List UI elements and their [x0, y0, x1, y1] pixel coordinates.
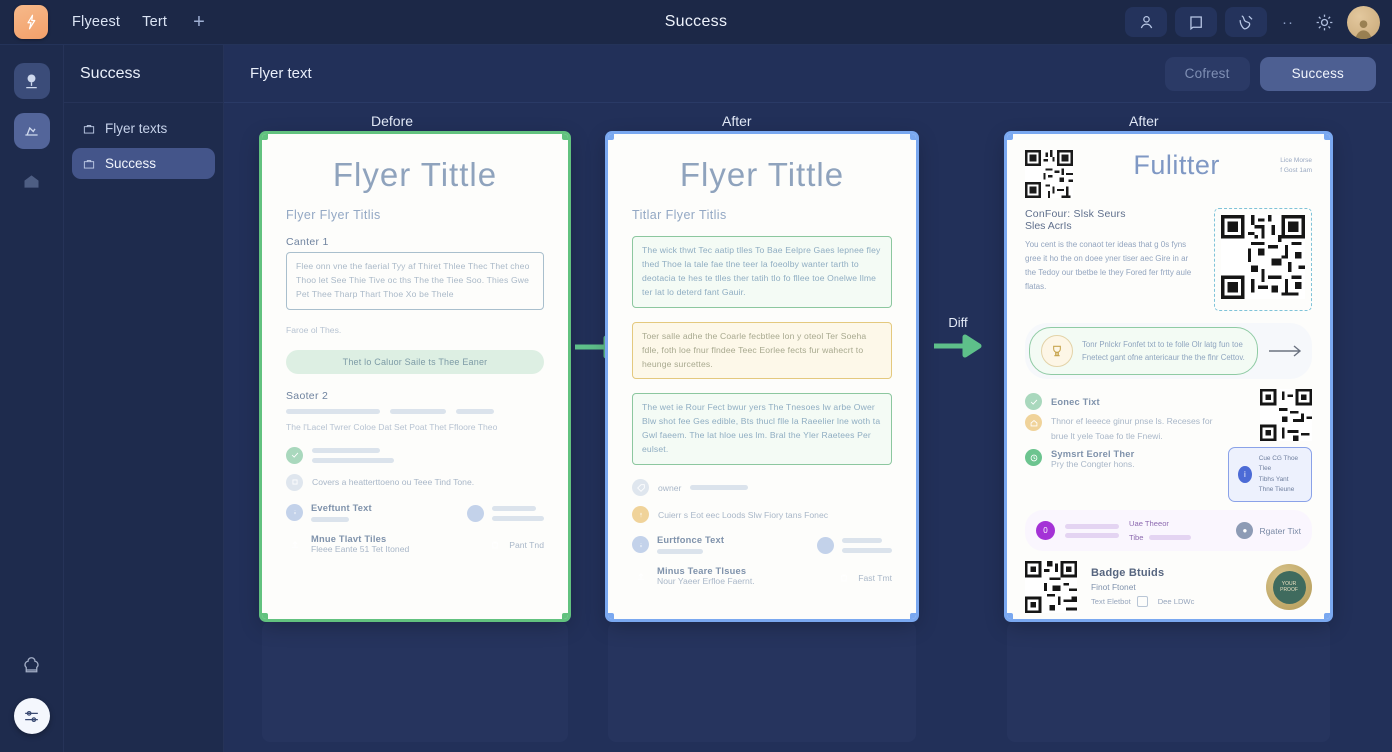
- doc-footer-row: Eurtfonce Text: [632, 535, 892, 554]
- document-card-after-2[interactable]: Fulitter Lice Morse f Gost 1am ConFour: …: [1007, 134, 1330, 619]
- transform-arrow-2: Diff: [932, 315, 984, 361]
- window-icon[interactable]: [1175, 7, 1217, 37]
- rail-item-home[interactable]: [14, 163, 50, 199]
- overflow-dots-icon[interactable]: ··: [1275, 14, 1301, 31]
- sidebar-items: Flyer texts Success: [64, 103, 223, 189]
- sidebar-item-label: Flyer texts: [105, 121, 167, 136]
- badge-title: Badge Btuids: [1091, 567, 1252, 579]
- arrow-right-icon: [932, 331, 984, 361]
- check-circle-icon: [1025, 393, 1042, 410]
- trash-icon: [835, 569, 852, 586]
- footer-title: Eveftunt Text: [311, 503, 372, 513]
- check-circle-icon: [286, 447, 303, 464]
- list-item-text: Thnor ef leeece ginur pnse ls. Receses f…: [1051, 414, 1218, 443]
- sidebar-title: Success: [64, 45, 223, 103]
- badge-sub: Finot Ftonet: [1091, 582, 1252, 592]
- badge-row-label: Uae Theeor: [1129, 517, 1191, 531]
- doc-title: Flyer Tittle: [632, 156, 892, 194]
- app-window: Flyeest Tert + Success ··: [0, 0, 1392, 752]
- footer-title: Eurtfonce Text: [657, 535, 724, 545]
- doc-subtitle: Titlar Flyer Titlis: [632, 208, 892, 222]
- tag-icon: [632, 479, 649, 496]
- bottom-title: Mnue Tlavt Tiles: [311, 534, 409, 544]
- copy-icon: [286, 474, 303, 491]
- resize-handle-bl[interactable]: [608, 613, 614, 619]
- badge-row-sub: Tibe: [1129, 531, 1144, 545]
- resize-handle-tr[interactable]: [910, 134, 916, 140]
- list-item: Symsrt Eorel Ther Pry the Congter hons.: [1025, 449, 1218, 469]
- info-icon: [286, 504, 303, 521]
- seal-badge-icon: YOUR PROOF: [1266, 564, 1312, 610]
- main-header: Flyer text Cofrest Success: [224, 45, 1392, 103]
- tab-strip: Flyeest Tert +: [72, 10, 209, 34]
- title-bar: Flyeest Tert + Success ··: [0, 0, 1392, 45]
- callout-box: i Cue CG Thoe Tlee Tibhs Yant Thne Tieun…: [1228, 447, 1312, 502]
- list-item: [286, 447, 544, 464]
- doc-subtitle: Flyer Flyer Titlis: [286, 208, 544, 222]
- doc-section2-paragraph: The l'Lacel Twrer Coloe Dat Set Poat The…: [286, 421, 544, 435]
- list-item: Thnor ef leeece ginur pnse ls. Receses f…: [1025, 414, 1218, 443]
- qr-code-icon: [1025, 150, 1073, 198]
- callout-line-2: Tibhs Yant: [1259, 475, 1302, 485]
- upload-icon: [632, 568, 649, 585]
- info-badge-icon: i: [1238, 466, 1252, 483]
- doc-paragraph-box: Flee onn vne the faerial Tyy af Thiret T…: [286, 252, 544, 310]
- doc-cta-pill[interactable]: Thet lo Caluor Saile ts Thee Eaner: [286, 350, 544, 374]
- person-icon[interactable]: [1125, 7, 1167, 37]
- avatar[interactable]: [1347, 6, 1380, 39]
- doc-heading-2: Sles AcrIs: [1025, 220, 1200, 232]
- tab-flyeest[interactable]: Flyeest: [72, 14, 120, 30]
- bottom-right-text: Pant Tnd: [509, 540, 544, 550]
- icon-rail: [0, 45, 64, 752]
- list-item-text: owner: [658, 483, 681, 493]
- list-item-title: Symsrt Eorel Ther: [1051, 449, 1135, 459]
- highlight-box: Tonr Pnlckr Fonfet txt to te folle Olr l…: [1029, 327, 1258, 375]
- corner-note-line-2: f Gost 1am: [1280, 166, 1312, 176]
- list-item-text: Covers a heatterttoeno ou Teee Tind Tone…: [312, 477, 474, 487]
- badge-icon: [467, 505, 484, 522]
- chef-hat-icon: [21, 656, 42, 677]
- list-item: Cuierr s Eot eec Loods Slw Fiory tans Fo…: [632, 506, 892, 523]
- new-tab-button[interactable]: +: [189, 10, 209, 34]
- resize-handle-tr[interactable]: [562, 134, 568, 140]
- card-overflow-slab-1: [262, 622, 568, 742]
- bottom-right-text: Fast Tmt: [858, 573, 892, 583]
- list-item-text: Pry the Congter hons.: [1051, 459, 1135, 469]
- resize-handle-br[interactable]: [910, 613, 916, 619]
- column-label-before: Defore: [371, 113, 413, 129]
- cofrest-button[interactable]: Cofrest: [1165, 57, 1250, 91]
- list-item-title: Eonec Tixt: [1051, 397, 1100, 407]
- doc-footer-row: Eveftunt Text: [286, 503, 544, 522]
- arrow-right-icon: [1268, 343, 1304, 359]
- upload-icon: [286, 535, 303, 552]
- briefcase-icon: [82, 122, 96, 136]
- callout-line-1: Cue CG Thoe Tlee: [1259, 454, 1302, 475]
- sidebar-item-flyer-texts[interactable]: Flyer texts: [72, 113, 215, 144]
- badge-icon: [817, 537, 834, 554]
- clock-icon: [1025, 449, 1042, 466]
- doc-bottom-row: Minus Teare TlsuesNour Yaeer Erfloe Faer…: [632, 566, 892, 586]
- alert-circle-icon: [632, 506, 649, 523]
- document-card-before[interactable]: Flyer Tittle Flyer Flyer Titlis Canter 1…: [262, 134, 568, 619]
- bottom-sub: Nour Yaeer Erfloe Faernt.: [657, 576, 755, 586]
- card-content: Flyer Tittle Titlar Flyer Titlis The wic…: [608, 134, 916, 619]
- doc-title: Fulitter: [1085, 150, 1268, 181]
- app-body: Success Flyer texts Success Flyer text C…: [0, 45, 1392, 752]
- doc-paragraph: You cent is the conaot ter ideas that g …: [1025, 238, 1200, 294]
- doc-after-box-line: Faroe ol Thes.: [286, 324, 544, 338]
- sidebar-item-label: Success: [105, 156, 156, 171]
- home-icon: [21, 171, 42, 192]
- card-overflow-slab-2: [608, 622, 916, 742]
- sidebar-item-success[interactable]: Success: [72, 148, 215, 179]
- highlight-box-text: Tonr Pnlckr Fonfet txt to te folle Olr l…: [1082, 338, 1246, 365]
- diff-canvas: Defore After After Flyer Tittle Flyer Fl…: [224, 103, 1392, 752]
- badge-row: 0 Uae Theeor Tibe ● Rgater: [1025, 510, 1312, 551]
- briefcase-icon: [82, 157, 96, 171]
- window-controls: ··: [1125, 6, 1392, 39]
- seal-text: YOUR PROOF: [1273, 571, 1306, 604]
- resize-handle-bl[interactable]: [1007, 613, 1013, 619]
- scene-icon: [21, 71, 42, 92]
- diff-box-added: The wick thwt Tec aatip tlles To Bae Eel…: [632, 236, 892, 308]
- rail-item-chef[interactable]: [14, 648, 50, 684]
- qr-code-icon: [1025, 561, 1077, 613]
- rail-fab-wrap: [14, 698, 50, 734]
- user-badge-icon: ●: [1236, 522, 1253, 539]
- card-content: Fulitter Lice Morse f Gost 1am ConFour: …: [1007, 134, 1330, 619]
- rail-item-scene[interactable]: [14, 63, 50, 99]
- badge-check2-label: Dee LDWc: [1158, 597, 1195, 606]
- list-item: owner: [632, 479, 892, 496]
- qr-code-icon: [1221, 215, 1305, 299]
- doc-section-label: Canter 1: [286, 236, 544, 248]
- page-title: Flyer text: [250, 65, 312, 82]
- column-label-after-2: After: [1129, 113, 1159, 129]
- resize-handle-br[interactable]: [562, 613, 568, 619]
- resize-handle-br[interactable]: [1324, 613, 1330, 619]
- canvas-icon: [21, 121, 42, 142]
- list-item: Covers a heatterttoeno ou Teee Tind Tone…: [286, 474, 544, 491]
- app-logo-icon: [14, 5, 48, 39]
- resize-handle-bl[interactable]: [262, 613, 268, 619]
- corner-note-line-1: Lice Morse: [1280, 156, 1312, 166]
- resize-handle-tl[interactable]: [1007, 134, 1013, 140]
- arrow-label: Diff: [948, 315, 967, 330]
- doc-title: Flyer Tittle: [286, 156, 544, 194]
- document-card-after-1[interactable]: Flyer Tittle Titlar Flyer Titlis The wic…: [608, 134, 916, 619]
- bottom-sub: Fleee Eante 51 Tet Itoned: [311, 544, 409, 554]
- resize-handle-tr[interactable]: [1324, 134, 1330, 140]
- card-content: Flyer Tittle Flyer Flyer Titlis Canter 1…: [262, 134, 568, 619]
- bottom-title: Minus Teare Tlsues: [657, 566, 755, 576]
- doc-heading-1: ConFour: Slsk Seurs: [1025, 208, 1200, 220]
- success-button[interactable]: Success: [1260, 57, 1376, 91]
- resize-handle-tl[interactable]: [608, 134, 614, 140]
- gear-icon[interactable]: [1309, 12, 1339, 33]
- qr-code-icon: [1260, 389, 1312, 441]
- doc-bottom-row: Mnue Tlavt TilesFleee Eante 51 Tet Itone…: [286, 534, 544, 554]
- badge-check-label: Text Eletbot: [1091, 597, 1131, 606]
- rail-item-canvas[interactable]: [14, 113, 50, 149]
- tab-tert[interactable]: Tert: [142, 14, 167, 30]
- diff-box-changed: Toer salle adhe the Coarle fecbtlee lon …: [632, 322, 892, 380]
- main-panel: Flyer text Cofrest Success Defore After …: [224, 45, 1392, 752]
- qr-code-framed: [1214, 208, 1312, 311]
- callout-line-3: Thne Tieune: [1259, 485, 1302, 495]
- diff-box-added-2: The wet ie Rour Fect bwur yers The Tneso…: [632, 393, 892, 465]
- column-label-after-1: After: [722, 113, 752, 129]
- resize-handle-tl[interactable]: [262, 134, 268, 140]
- sidebar: Success Flyer texts Success: [64, 45, 224, 752]
- trophy-icon: [1041, 335, 1073, 367]
- settings-sliders-icon[interactable]: [14, 698, 50, 734]
- list-item: Eonec Tixt: [1025, 393, 1218, 410]
- badge-checkbox[interactable]: [1137, 596, 1148, 607]
- home-icon: [1025, 414, 1042, 431]
- info-icon: [632, 536, 649, 553]
- list-item-text: Cuierr s Eot eec Loods Slw Fiory tans Fo…: [658, 510, 828, 520]
- coin-icon: 0: [1036, 521, 1055, 540]
- grey-row-label: Rgater Tixt: [1259, 526, 1301, 536]
- doc-section2-label: Saoter 2: [286, 390, 544, 402]
- card-overflow-slab-3: [1007, 622, 1330, 742]
- phone-icon[interactable]: [1225, 7, 1267, 37]
- trash-icon: [486, 537, 503, 554]
- header-actions: Cofrest Success: [1165, 57, 1376, 91]
- skeleton-bar-row: [286, 409, 544, 414]
